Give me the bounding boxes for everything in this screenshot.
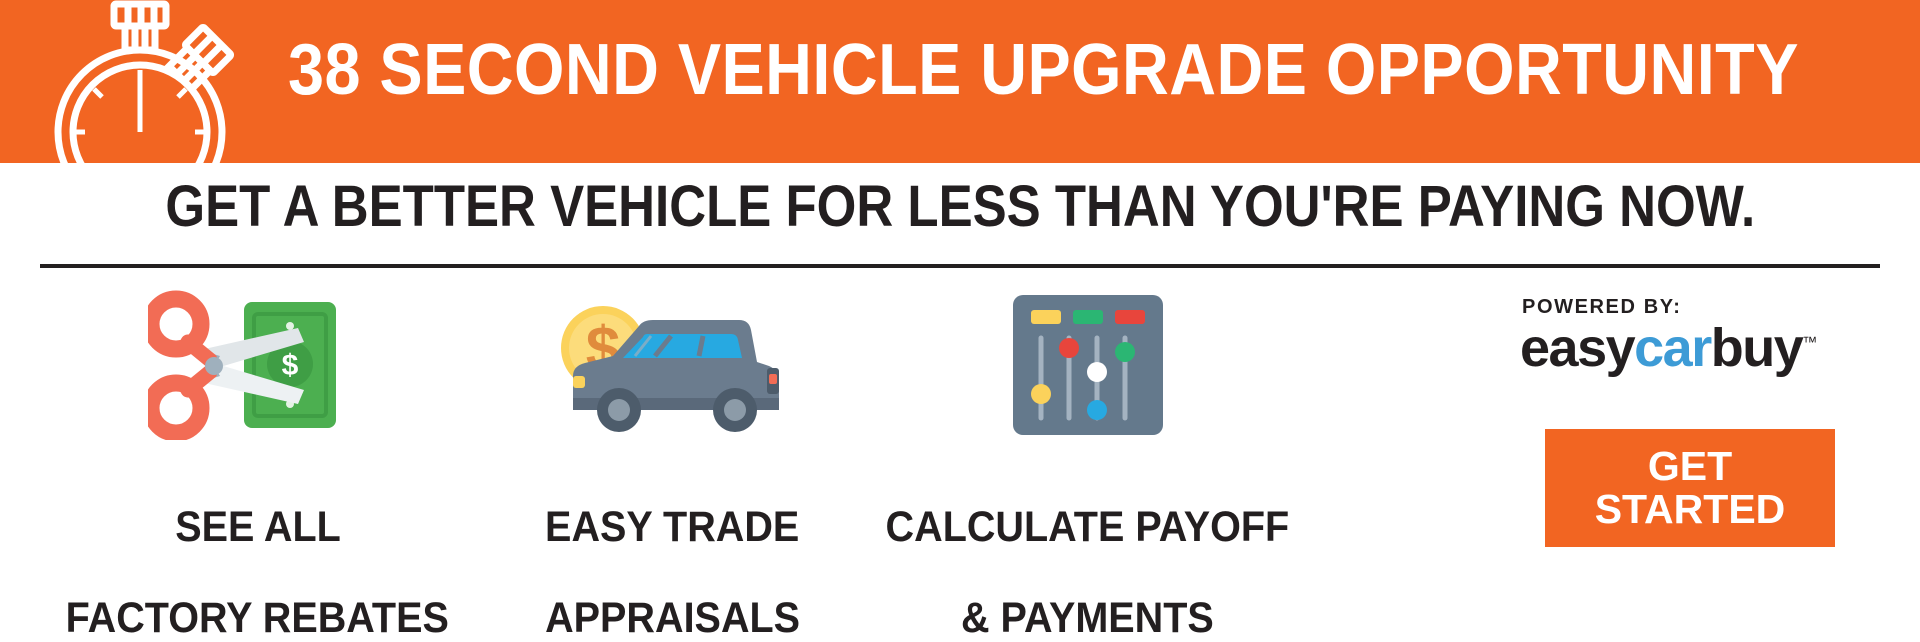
subheading-text: GET A BETTER VEHICLE FOR LESS THAN YOU'R… xyxy=(165,178,1755,236)
feature-label-line1: SEE ALL xyxy=(175,505,341,551)
feature-label-line1: EASY TRADE xyxy=(545,505,799,551)
promo-banner: 38 SECOND VEHICLE UPGRADE OPPORTUNITY GE… xyxy=(0,0,1920,614)
logo-part-car: car xyxy=(1634,318,1711,378)
cta-line2: STARTED xyxy=(1595,488,1786,531)
feature-item-rebates: $ xyxy=(30,285,485,641)
easycarbuy-logo: easycarbuy™ xyxy=(1520,321,1817,375)
scissors-cutting-money-icon: $ xyxy=(148,285,368,445)
logo-part-buy: buy xyxy=(1711,318,1803,378)
car-trade-appraisal-icon: $ xyxy=(543,285,803,445)
horizontal-divider xyxy=(40,264,1880,268)
subheading: GET A BETTER VEHICLE FOR LESS THAN YOU'R… xyxy=(0,178,1920,236)
feature-list: $ xyxy=(0,285,1555,615)
feature-label-line1: CALCULATE PAYOFF xyxy=(886,505,1290,551)
header-band: 38 SECOND VEHICLE UPGRADE OPPORTUNITY xyxy=(0,0,1920,163)
feature-label-line2: APPRAISALS xyxy=(545,596,800,642)
cta-line1: GET xyxy=(1648,445,1732,488)
feature-item-payments: CALCULATE PAYOFF & PAYMENTS xyxy=(860,285,1315,641)
logo-part-easy: easy xyxy=(1520,318,1634,378)
stopwatch-icon xyxy=(28,0,258,182)
brand-panel: POWERED BY: easycarbuy™ GET STARTED xyxy=(1500,296,1880,547)
get-started-button[interactable]: GET STARTED xyxy=(1545,429,1835,547)
page-title: 38 SECOND VEHICLE UPGRADE OPPORTUNITY xyxy=(288,34,1746,106)
feature-label-line2: & PAYMENTS xyxy=(961,596,1214,642)
logo-trademark: ™ xyxy=(1802,334,1817,351)
feature-label-line2: FACTORY REBATES xyxy=(66,596,449,642)
svg-text:$: $ xyxy=(281,349,298,382)
feature-item-trade: $ xyxy=(445,285,900,641)
powered-by-label: POWERED BY: xyxy=(1522,296,1681,319)
equalizer-sliders-icon xyxy=(1003,285,1173,445)
